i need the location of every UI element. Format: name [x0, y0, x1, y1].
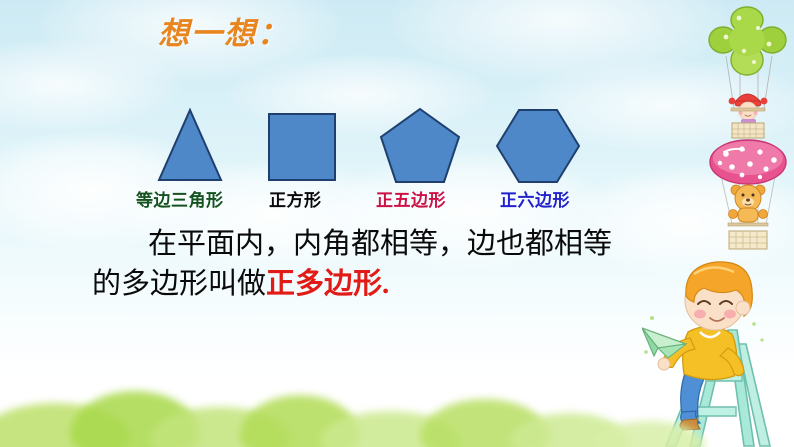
slide-canvas: 想一想： 等边三角形 正方形 正五边形 正六边形 在平面内，内角都相等，边也都相… [0, 0, 794, 447]
shape-equilateral-triangle [155, 106, 225, 184]
definition-highlight: 正多边形 [266, 268, 382, 300]
shape-label-square: 正方形 [269, 186, 322, 211]
cloud-decoration [390, 0, 730, 80]
shape-label-regular-pentagon: 正五边形 [376, 186, 446, 211]
boy-on-ladder-illustration [642, 252, 794, 447]
cloud-decoration [0, 40, 180, 130]
shape-regular-hexagon [493, 106, 583, 186]
clover-balloon-with-girl-illustration [706, 4, 790, 140]
definition-text-after: . [382, 268, 389, 300]
page-title: 想一想： [158, 8, 290, 53]
shape-label-equilateral-triangle: 等边三角形 [136, 186, 224, 211]
star-balloon-with-bear-illustration [706, 138, 790, 256]
shape-square [266, 111, 338, 183]
definition-paragraph: 在平面内，内角都相等，边也都相等的多边形叫做正多边形. [92, 224, 637, 304]
shape-label-regular-hexagon: 正六边形 [500, 186, 570, 211]
shape-regular-pentagon [378, 106, 462, 186]
